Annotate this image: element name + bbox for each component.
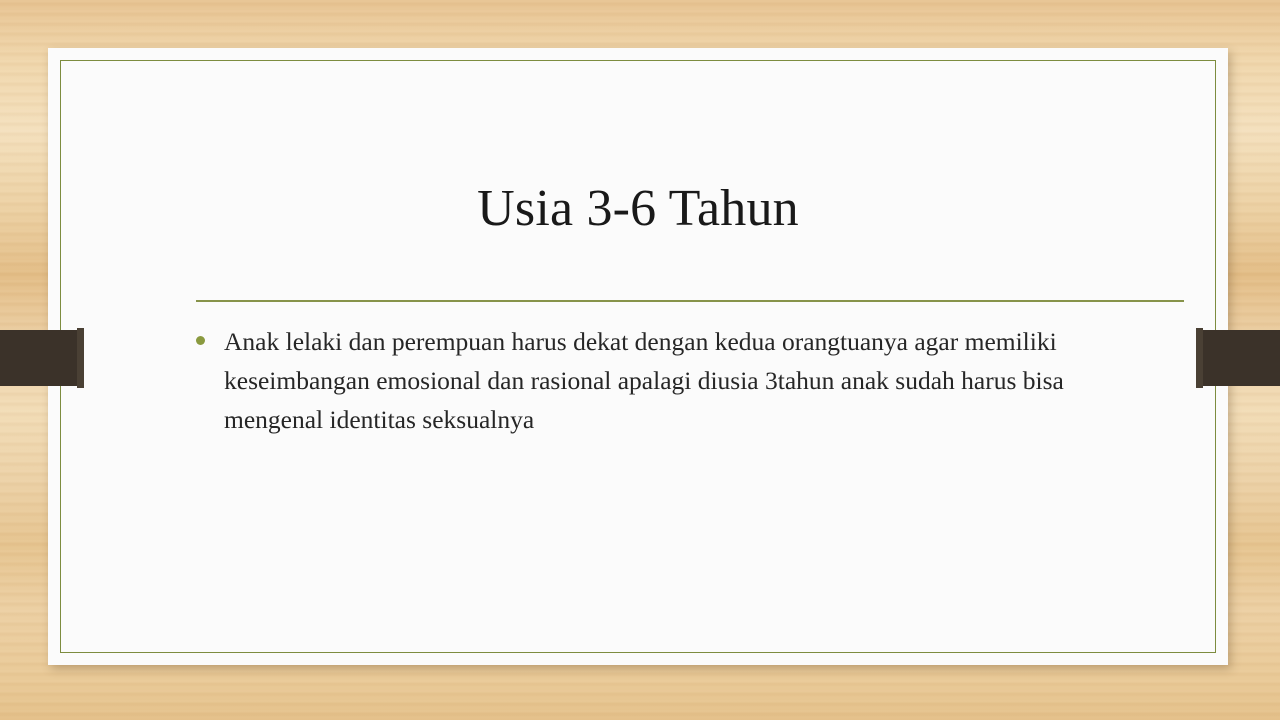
slide-card: Usia 3-6 Tahun Anak lelaki dan perempuan… xyxy=(48,48,1228,665)
left-accent-bar xyxy=(0,330,84,386)
page-title: Usia 3-6 Tahun xyxy=(118,180,1158,237)
body-bullet-list: Anak lelaki dan perempuan harus dekat de… xyxy=(191,322,1166,439)
right-accent-bar xyxy=(1196,330,1280,386)
title-divider xyxy=(196,300,1184,302)
list-item: Anak lelaki dan perempuan harus dekat de… xyxy=(191,322,1166,439)
slide-stage: Usia 3-6 Tahun Anak lelaki dan perempuan… xyxy=(0,0,1280,720)
list-item-text: Anak lelaki dan perempuan harus dekat de… xyxy=(224,327,1064,434)
bullet-dot-icon xyxy=(196,336,205,345)
